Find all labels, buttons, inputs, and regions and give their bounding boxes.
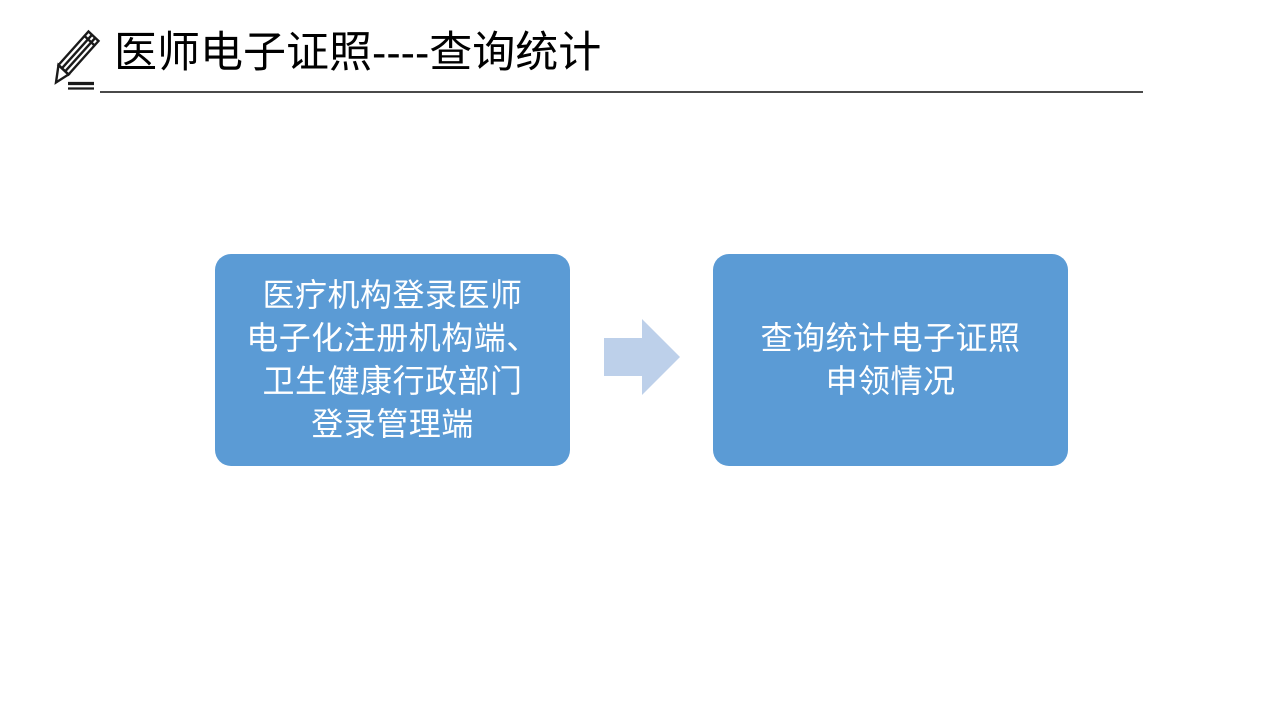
flow-box-target-label: 查询统计电子证照 申领情况 <box>760 317 1020 403</box>
flow-diagram: 医疗机构登录医师 电子化注册机构端、 卫生健康行政部门 登录管理端 查询统计电子… <box>0 0 1280 720</box>
flow-box-target[interactable]: 查询统计电子证照 申领情况 <box>713 254 1068 466</box>
flow-box-source-label: 医疗机构登录医师 电子化注册机构端、 卫生健康行政部门 登录管理端 <box>246 274 539 446</box>
arrow-right-icon <box>604 319 680 395</box>
flow-box-source[interactable]: 医疗机构登录医师 电子化注册机构端、 卫生健康行政部门 登录管理端 <box>215 254 570 466</box>
